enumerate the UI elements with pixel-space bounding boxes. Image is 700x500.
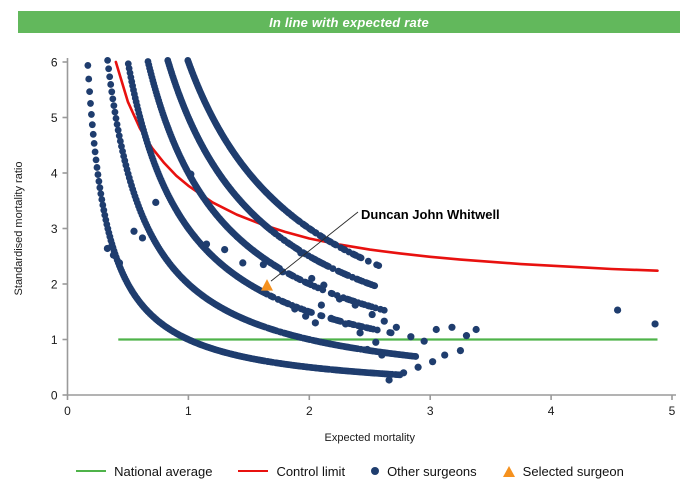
x-tick-label: 5: [669, 404, 676, 418]
data-point: [112, 109, 119, 116]
data-point: [291, 305, 298, 312]
annotation-label: Duncan John Whitwell: [361, 207, 500, 222]
data-point: [393, 324, 400, 331]
data-point: [105, 65, 112, 72]
data-point: [375, 262, 382, 269]
data-point: [369, 311, 376, 318]
x-tick-label: 1: [185, 404, 192, 418]
data-point: [308, 275, 315, 282]
data-point: [371, 282, 378, 289]
y-tick-label: 1: [51, 333, 58, 347]
data-point: [139, 234, 146, 241]
legend-other-surgeons[interactable]: Other surgeons: [371, 464, 477, 479]
data-point: [388, 329, 395, 336]
data-point: [107, 81, 114, 88]
data-point: [381, 307, 388, 314]
legend-other-surgeons-label: Other surgeons: [387, 464, 477, 479]
funnel-plot-svg: 0123456012345Expected mortalityStandardi…: [0, 36, 700, 446]
legend-other-surgeons-dot-swatch: [371, 467, 379, 475]
legend-selected-surgeon-label: Selected surgeon: [523, 464, 624, 479]
data-point: [352, 301, 359, 308]
data-point: [385, 376, 392, 383]
banner-title: In line with expected rate: [269, 15, 429, 30]
status-banner: In line with expected rate: [18, 11, 680, 33]
x-tick-label: 2: [306, 404, 313, 418]
data-point: [96, 178, 103, 185]
data-point: [92, 148, 99, 155]
data-point: [108, 88, 115, 95]
data-point: [421, 338, 428, 345]
data-point: [381, 318, 388, 325]
x-tick-label: 4: [548, 404, 555, 418]
data-point: [441, 351, 448, 358]
data-point: [448, 324, 455, 331]
data-point: [260, 261, 267, 268]
data-point: [93, 156, 100, 163]
data-point: [429, 358, 436, 365]
data-point: [106, 73, 113, 80]
data-point: [86, 88, 93, 95]
chart-legend: National averageControl limitOther surge…: [0, 455, 700, 487]
data-point: [89, 121, 96, 128]
legend-selected-surgeon[interactable]: Selected surgeon: [503, 464, 624, 479]
data-point: [90, 131, 97, 138]
x-axis-title: Expected mortality: [325, 432, 416, 444]
data-point: [96, 184, 103, 191]
data-point: [203, 240, 210, 247]
data-point: [463, 332, 470, 339]
data-point: [433, 326, 440, 333]
data-point: [400, 369, 407, 376]
funnel-plot-page: In line with expected rate 0123456012345…: [0, 0, 700, 500]
chart-area: 0123456012345Expected mortalityStandardi…: [0, 36, 700, 446]
data-point: [104, 245, 111, 252]
annotation: Duncan John Whitwell: [271, 207, 500, 281]
data-point: [104, 57, 111, 64]
data-point: [113, 115, 120, 122]
data-point: [407, 333, 414, 340]
data-point: [378, 351, 385, 358]
data-point: [239, 259, 246, 266]
data-point: [97, 190, 104, 197]
data-point: [308, 309, 315, 316]
data-point: [91, 140, 98, 147]
data-point: [130, 228, 137, 235]
data-point: [651, 320, 658, 327]
legend-national-average-label: National average: [114, 464, 212, 479]
y-tick-label: 6: [51, 56, 58, 70]
data-point: [109, 95, 116, 102]
data-point: [110, 252, 117, 259]
data-point: [457, 347, 464, 354]
legend-control-limit-line-swatch: [238, 470, 268, 472]
x-tick-label: 0: [64, 404, 71, 418]
legend-national-average-line-swatch: [76, 470, 106, 472]
data-point: [374, 327, 381, 334]
data-point: [110, 102, 117, 109]
data-point: [187, 171, 194, 178]
x-tick-label: 3: [427, 404, 434, 418]
data-point: [114, 121, 121, 128]
data-point: [473, 326, 480, 333]
y-tick-label: 2: [51, 278, 58, 292]
data-point: [320, 282, 327, 289]
data-point: [358, 254, 365, 261]
data-point: [318, 301, 325, 308]
data-point: [415, 364, 422, 371]
legend-selected-surgeon-triangle-swatch: [503, 466, 515, 477]
legend-control-limit-label: Control limit: [276, 464, 345, 479]
legend-control-limit[interactable]: Control limit: [238, 464, 345, 479]
data-point: [365, 258, 372, 265]
legend-national-average[interactable]: National average: [76, 464, 212, 479]
data-point: [95, 171, 102, 178]
data-point: [356, 329, 363, 336]
data-point: [94, 164, 101, 171]
data-point: [372, 339, 379, 346]
data-point: [342, 320, 349, 327]
data-point: [302, 313, 309, 320]
data-point: [152, 199, 159, 206]
reference-lines: [116, 62, 658, 340]
data-point: [87, 100, 94, 107]
y-tick-label: 4: [51, 167, 58, 181]
y-axis-title: Standardised mortality ratio: [13, 162, 25, 296]
data-point: [319, 313, 326, 320]
y-tick-label: 0: [51, 389, 58, 403]
data-point: [88, 111, 95, 118]
data-point: [84, 62, 91, 69]
y-tick-label: 3: [51, 222, 58, 236]
data-point: [614, 306, 621, 313]
data-point: [221, 246, 228, 253]
data-point: [336, 295, 343, 302]
data-point: [85, 76, 92, 83]
data-point: [412, 353, 419, 360]
data-point: [364, 346, 371, 353]
data-point: [116, 259, 123, 266]
data-point: [312, 319, 319, 326]
data-point: [327, 315, 334, 322]
y-tick-label: 5: [51, 111, 58, 125]
